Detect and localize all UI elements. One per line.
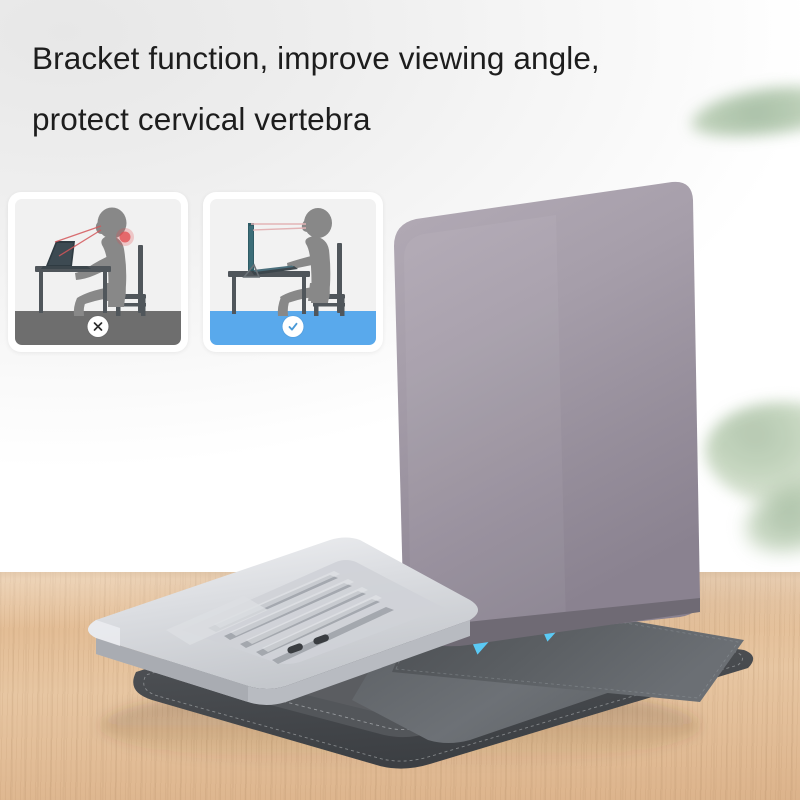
product-banner: Bracket function, improve viewing angle,… (0, 0, 800, 800)
laptop-lid-sheen (404, 215, 566, 640)
product-vector (0, 0, 800, 800)
product-photo-group (0, 0, 800, 800)
